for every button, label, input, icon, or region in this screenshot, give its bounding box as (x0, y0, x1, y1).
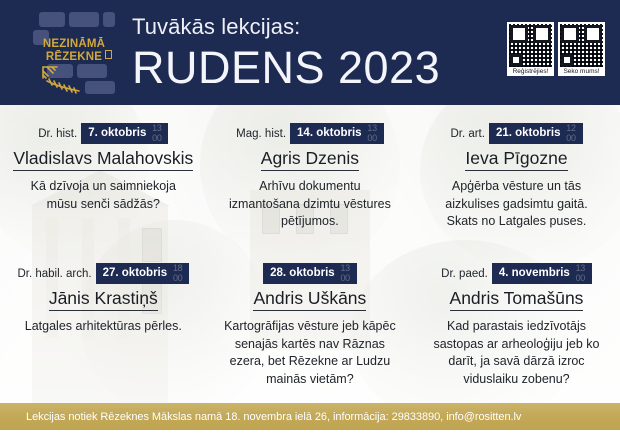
lecture-grid: Dr. hist. 7. oktobris 1300 Vladislavs Ma… (0, 105, 620, 403)
lecture-card-header: Dr. paed. 4. novembris 1300 (421, 263, 612, 284)
lecture-card-header: Dr. hist. 7. oktobris 1300 (8, 123, 199, 144)
wheat-icon (39, 64, 85, 94)
lecture-date-badge: 28. oktobris 1300 (263, 263, 357, 284)
lecture-row: Dr. habil. arch. 27. oktobris 1800 Jānis… (0, 263, 620, 388)
header-titles: Tuvākās lekcijas: RUDENS 2023 (132, 14, 440, 94)
lecture-topic: Kad parastais iedzīvotājs sastopas ar ar… (421, 318, 612, 388)
lecture-card: Dr. art. 21. oktobris 1200 Ieva Pīgozne … (413, 123, 620, 231)
lecture-time: 1300 (364, 124, 381, 143)
lecturer-degree: Dr. habil. arch. (17, 267, 91, 281)
lecture-date: 27. oktobris (103, 267, 168, 279)
lecture-row: Dr. hist. 7. oktobris 1300 Vladislavs Ma… (0, 123, 620, 231)
footer-spacer (0, 430, 620, 437)
lecture-time: 1300 (148, 124, 165, 143)
lecturer-name: Jānis Krastiņš (49, 287, 158, 311)
lecturer-degree: Dr. art. (450, 127, 485, 141)
lecture-card: 28. oktobris 1300 Andris Uškāns Kartogrā… (207, 263, 414, 388)
lecture-card: Dr. hist. 7. oktobris 1300 Vladislavs Ma… (0, 123, 207, 231)
lecture-card: Mag. hist. 14. oktobris 1300 Agris Dzeni… (207, 123, 414, 231)
lecture-card-header: Dr. art. 21. oktobris 1200 (421, 123, 612, 144)
lecture-date: 14. oktobris (297, 127, 362, 139)
qr-code-group: Reģistrējies! Seko mums! (507, 22, 605, 76)
lecture-topic: Kā dzīvoja un saimniekoja mūsu senči sād… (8, 178, 199, 213)
lecturer-name: Andris Tomašūns (450, 287, 584, 311)
lecturer-degree: Dr. paed. (441, 267, 488, 281)
qr-code-register[interactable]: Reģistrējies! (507, 22, 554, 76)
lecture-poster: NEZINĀMĀ RĒZEKNE Tuvākās lekcijas: RUDEN… (0, 0, 620, 437)
qr-code-label: Seko mums! (563, 67, 599, 76)
lecture-time: 1300 (337, 264, 354, 283)
logo-text-line1: NEZINĀMĀ (33, 38, 115, 51)
lecture-date: 21. oktobris (496, 127, 561, 139)
lecture-card-header: 28. oktobris 1300 (215, 263, 406, 284)
poster-header: NEZINĀMĀ RĒZEKNE Tuvākās lekcijas: RUDEN… (0, 0, 620, 105)
lecture-time: 1300 (572, 264, 589, 283)
logo-brick (85, 81, 115, 94)
lecturer-name: Agris Dzenis (261, 147, 359, 171)
lecture-topic: Latgales arhitektūras pērles. (8, 318, 199, 336)
lecture-date: 7. oktobris (88, 127, 146, 139)
qr-code-icon (509, 24, 552, 67)
logo-brick (69, 12, 99, 27)
qr-code-label: Reģistrējies! (513, 67, 549, 76)
footer-info: Lekcijas notiek Rēzeknes Mākslas namā 18… (0, 410, 521, 424)
qr-code-follow[interactable]: Seko mums! (558, 22, 605, 76)
lecture-time: 1200 (563, 124, 580, 143)
lecturer-name: Vladislavs Malahovskis (13, 147, 193, 171)
logo-brick (39, 12, 65, 27)
lecture-date: 4. novembris (499, 267, 570, 279)
lecture-time: 1800 (169, 264, 186, 283)
lecture-topic: Apģērba vēsture un tās aizkulises gadsim… (421, 178, 612, 231)
logo: NEZINĀMĀ RĒZEKNE (33, 12, 115, 94)
lecture-date-badge: 14. oktobris 1300 (290, 123, 384, 144)
lecturer-degree: Mag. hist. (236, 127, 286, 141)
lecturer-name: Andris Uškāns (253, 287, 366, 311)
qr-code-icon (560, 24, 603, 67)
lecture-date-badge: 21. oktobris 1200 (489, 123, 583, 144)
logo-brick (103, 12, 115, 27)
lecture-topic: Arhīvu dokumentu izmantošana dzimtu vēst… (215, 178, 406, 231)
logo-text-line2: RĒZEKNE (33, 51, 115, 64)
lecturer-name: Ieva Pīgozne (465, 147, 567, 171)
lecture-card: Dr. habil. arch. 27. oktobris 1800 Jānis… (0, 263, 207, 388)
lecture-card-header: Dr. habil. arch. 27. oktobris 1800 (8, 263, 199, 284)
lecture-date-badge: 7. oktobris 1300 (81, 123, 168, 144)
header-subtitle: Tuvākās lekcijas: (132, 14, 440, 40)
logo-text: NEZINĀMĀ RĒZEKNE (33, 38, 115, 64)
lecture-date-badge: 27. oktobris 1800 (96, 263, 190, 284)
logo-accent-square (105, 50, 112, 59)
lecture-date-badge: 4. novembris 1300 (492, 263, 592, 284)
lecture-card-header: Mag. hist. 14. oktobris 1300 (215, 123, 406, 144)
lecture-date: 28. oktobris (270, 267, 335, 279)
lecturer-degree: Dr. hist. (38, 127, 77, 141)
footer-bar: Lekcijas notiek Rēzeknes Mākslas namā 18… (0, 403, 620, 430)
lecture-topic: Kartogrāfijas vēsture jeb kāpēc senajās … (215, 318, 406, 388)
page-title: RUDENS 2023 (132, 42, 440, 94)
lecture-card: Dr. paed. 4. novembris 1300 Andris Tomaš… (413, 263, 620, 388)
